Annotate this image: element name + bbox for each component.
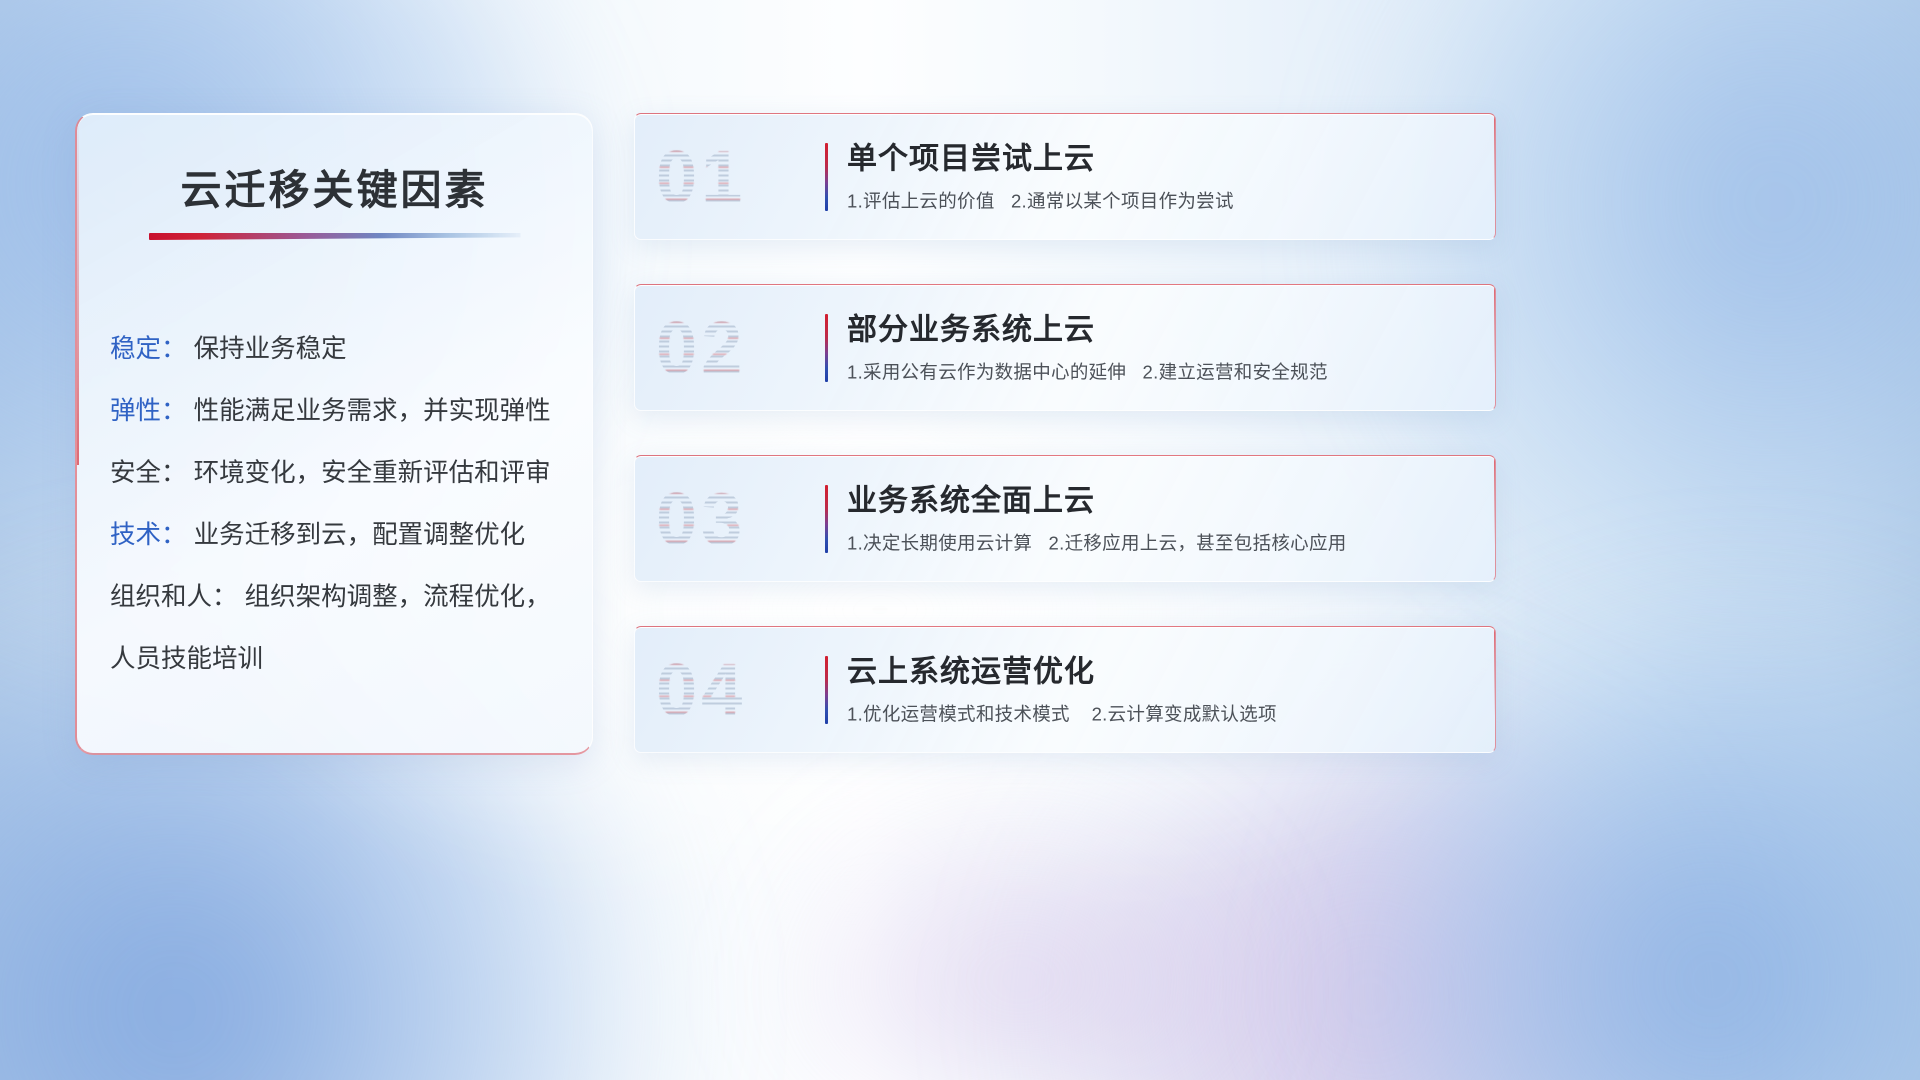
stage-number: 03: [656, 476, 746, 561]
stage-card[interactable]: 0404云上系统运营优化1.优化运营模式和技术模式 2.云计算变成默认选项: [634, 626, 1496, 753]
cloud-journey-stage-cards: 0101单个项目尝试上云1.评估上云的价值 2.通常以某个项目作为尝试0202部…: [634, 113, 1496, 797]
key-factor-label: 稳定：: [110, 335, 187, 363]
key-factor-row: 技术： 业务迁移到云，配置调整优化: [110, 504, 592, 566]
stage-title: 业务系统全面上云: [847, 483, 1347, 519]
stage-number: 02: [656, 305, 746, 390]
stage-title: 单个项目尝试上云: [847, 141, 1234, 177]
stage-card[interactable]: 0101单个项目尝试上云1.评估上云的价值 2.通常以某个项目作为尝试: [634, 113, 1496, 240]
stage-accent-bar: [825, 143, 828, 211]
key-factor-label: 弹性：: [110, 397, 187, 425]
key-factor-row: 弹性： 性能满足业务需求，并实现弹性: [110, 380, 592, 442]
key-factors-list: 稳定： 保持业务稳定弹性： 性能满足业务需求，并实现弹性安全： 环境变化，安全重…: [110, 318, 592, 690]
key-factor-value: 业务迁移到云，配置调整优化: [194, 521, 526, 549]
key-factor-row: 人员技能培训: [110, 628, 592, 690]
stage-number: 04: [656, 647, 746, 732]
key-factor-row: 稳定： 保持业务稳定: [110, 318, 592, 380]
stage-title: 云上系统运营优化: [847, 654, 1277, 690]
key-factor-row: 安全： 环境变化，安全重新评估和评审: [110, 442, 592, 504]
stage-card-body: 云上系统运营优化1.优化运营模式和技术模式 2.云计算变成默认选项: [847, 654, 1277, 725]
key-factor-label: 技术：: [110, 521, 187, 549]
stage-accent-bar: [825, 485, 828, 553]
stage-title: 部分业务系统上云: [847, 312, 1328, 348]
stage-description: 1.决定长期使用云计算 2.迁移应用上云，甚至包括核心应用: [847, 532, 1347, 554]
stage-card-body: 部分业务系统上云1.采用公有云作为数据中心的延伸 2.建立运营和安全规范: [847, 312, 1328, 383]
key-factor-label: 安全：: [110, 459, 187, 487]
key-factor-label: 组织和人：: [110, 583, 238, 611]
key-factors-panel: 云迁移关键因素 稳定： 保持业务稳定弹性： 性能满足业务需求，并实现弹性安全： …: [75, 113, 593, 755]
key-factor-value: 人员技能培训: [110, 645, 263, 673]
stage-description: 1.优化运营模式和技术模式 2.云计算变成默认选项: [847, 703, 1277, 725]
key-factor-value: 组织架构调整，流程优化，: [245, 583, 551, 611]
key-factor-value: 环境变化，安全重新评估和评审: [194, 459, 551, 487]
stage-accent-bar: [825, 314, 828, 382]
stage-card-body: 业务系统全面上云1.决定长期使用云计算 2.迁移应用上云，甚至包括核心应用: [847, 483, 1347, 554]
title-underline-accent: [149, 233, 521, 240]
stage-number: 01: [656, 134, 746, 219]
stage-card[interactable]: 0303业务系统全面上云1.决定长期使用云计算 2.迁移应用上云，甚至包括核心应…: [634, 455, 1496, 582]
stage-description: 1.评估上云的价值 2.通常以某个项目作为尝试: [847, 190, 1234, 212]
page-title: 云迁移关键因素: [77, 156, 592, 216]
key-factor-value: 性能满足业务需求，并实现弹性: [194, 397, 551, 425]
stage-card[interactable]: 0202部分业务系统上云1.采用公有云作为数据中心的延伸 2.建立运营和安全规范: [634, 284, 1496, 411]
key-factor-value: 保持业务稳定: [194, 335, 347, 363]
background-blob-violet: [760, 780, 1280, 1080]
key-factor-row: 组织和人： 组织架构调整，流程优化，: [110, 566, 592, 628]
stage-card-body: 单个项目尝试上云1.评估上云的价值 2.通常以某个项目作为尝试: [847, 141, 1234, 212]
stage-accent-bar: [825, 656, 828, 724]
stage-description: 1.采用公有云作为数据中心的延伸 2.建立运营和安全规范: [847, 361, 1328, 383]
